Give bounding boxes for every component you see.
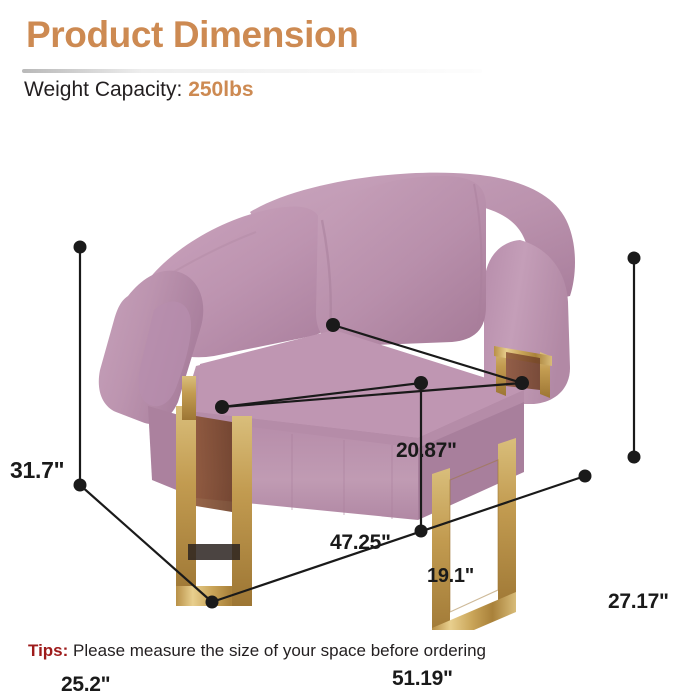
tips-text: Please measure the size of your space be… xyxy=(73,641,486,660)
dot-width-end xyxy=(579,470,592,483)
leg-left-shadow-gap xyxy=(188,544,240,560)
dimension-label-seat-height: 19.1" xyxy=(427,565,474,588)
dimension-label-seat-depth: 20.87" xyxy=(396,439,457,463)
leg-front-left xyxy=(176,406,196,600)
dot-seat-left xyxy=(215,400,229,414)
leg-left-wood-accent xyxy=(196,416,232,512)
weight-capacity-line: Weight Capacity: 250lbs xyxy=(24,78,254,102)
leg-right-front xyxy=(432,468,450,630)
weight-capacity-value: 250lbs xyxy=(188,78,253,101)
tips-label: Tips: xyxy=(28,641,68,660)
dimension-label-back-height: 27.17" xyxy=(608,590,669,614)
dot-seat-right xyxy=(414,376,428,390)
dot-seat-right-far xyxy=(515,376,529,390)
weight-capacity-label: Weight Capacity: xyxy=(24,78,182,101)
dimension-label-seat-width: 47.25" xyxy=(330,531,391,555)
dimension-diagram: 31.7" 20.87" 47.25" 19.1" 51.19" 25.2" 2… xyxy=(0,120,700,630)
dot-depth-end xyxy=(206,596,219,609)
back-cushion-right xyxy=(316,176,486,346)
page-title: Product Dimension xyxy=(26,14,358,56)
leg-right-back xyxy=(498,438,516,614)
dot-width-mid xyxy=(415,525,428,538)
dot-seat-corner xyxy=(326,318,340,332)
dot-back-height-bottom xyxy=(628,451,641,464)
dimension-label-width: 51.19" xyxy=(392,667,453,691)
dot-height-bottom xyxy=(74,479,87,492)
dimension-label-height: 31.7" xyxy=(10,457,64,484)
product-dimension-page: Product Dimension Weight Capacity: 250lb… xyxy=(0,0,700,700)
dot-height-top xyxy=(74,241,87,254)
title-divider xyxy=(22,69,482,73)
dot-back-height-top xyxy=(628,252,641,265)
leg-front-left-back xyxy=(232,416,252,606)
tips-line: Tips: Please measure the size of your sp… xyxy=(28,641,486,661)
dimension-label-depth: 25.2" xyxy=(61,673,110,697)
arm-support-left xyxy=(182,376,196,420)
